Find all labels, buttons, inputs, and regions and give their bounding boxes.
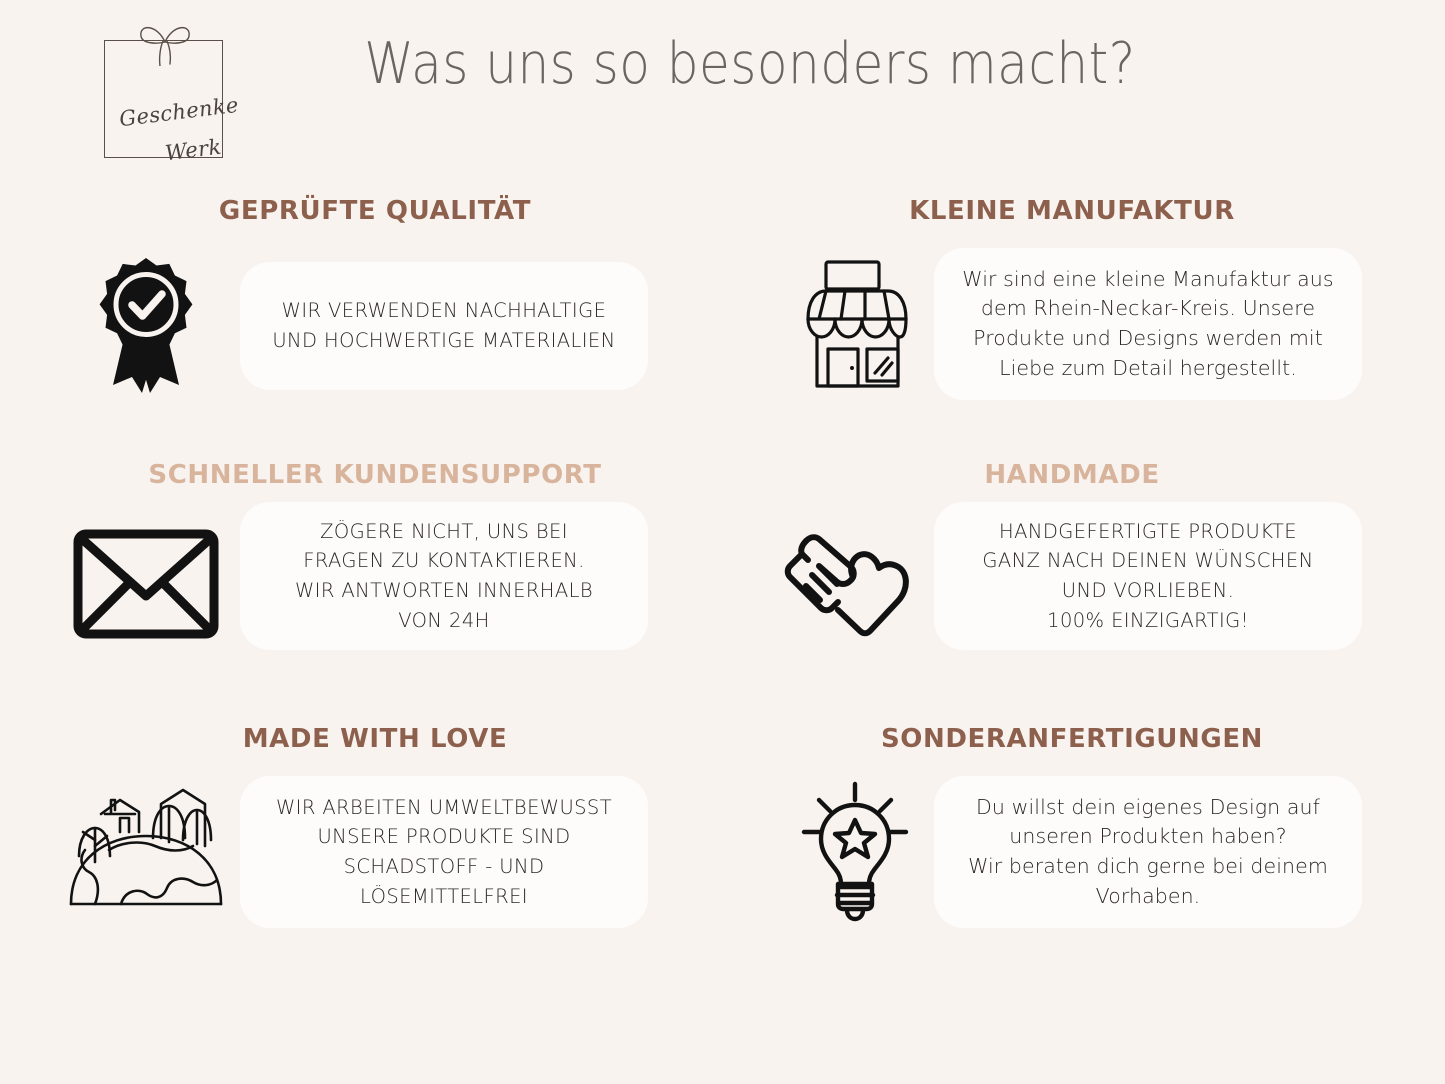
feature-body-gepruefte-qualitaet: WIR VERWENDEN NACHHALTIGE UND HOCHWERTIG… [272, 296, 615, 355]
bow-icon [127, 20, 203, 66]
feature-card-sonderanfertigungen: Du willst dein eigenes Design auf unsere… [934, 776, 1362, 928]
features-row-1: GEPRÜFTE QUALITÄT WIR VERWENDEN NACHHALT… [0, 196, 1445, 460]
page-title: Was uns so besonders macht? [328, 33, 1173, 96]
feature-kleine-manufaktur: KLEINE MANUFAKTUR [722, 196, 1422, 460]
features-row-3: MADE WITH LOVE [0, 724, 1445, 988]
feature-body-kleine-manufaktur: Wir sind eine kleine Manufaktur aus dem … [962, 265, 1333, 384]
feature-heading-made-with-love: MADE WITH LOVE [25, 724, 725, 754]
feature-body-schneller-kundensupport: ZÖGERE NICHT, UNS BEI FRAGEN ZU KONTAKTI… [295, 517, 593, 636]
feature-card-gepruefte-qualitaet: WIR VERWENDEN NACHHALTIGE UND HOCHWERTIG… [240, 262, 648, 390]
feature-made-with-love: MADE WITH LOVE [25, 724, 725, 988]
feature-sonderanfertigungen: SONDERANFERTIGUNGEN [722, 724, 1422, 988]
feature-heading-gepruefte-qualitaet: GEPRÜFTE QUALITÄT [25, 196, 725, 226]
feature-gepruefte-qualitaet: GEPRÜFTE QUALITÄT WIR VERWENDEN NACHHALT… [25, 196, 725, 460]
storefront-icon [770, 244, 940, 404]
feature-card-schneller-kundensupport: ZÖGERE NICHT, UNS BEI FRAGEN ZU KONTAKTI… [240, 502, 648, 650]
feature-handmade: HANDMADE HANDGEFERTIGTE PRODUKTE GANZ NA [722, 460, 1422, 724]
feature-card-kleine-manufaktur: Wir sind eine kleine Manufaktur aus dem … [934, 248, 1362, 400]
feature-schneller-kundensupport: SCHNELLER KUNDENSUPPORT ZÖGERE NICHT, UN… [25, 460, 725, 724]
brand-logo: Geschenke Werk [97, 20, 231, 160]
feature-body-made-with-love: WIR ARBEITEN UMWELTBEWUSST UNSERE PRODUK… [276, 793, 612, 912]
feature-body-handmade: HANDGEFERTIGTE PRODUKTE GANZ NACH DEINEN… [982, 517, 1313, 636]
hand-holding-heart-icon [770, 504, 940, 664]
features-row-2: SCHNELLER KUNDENSUPPORT ZÖGERE NICHT, UN… [0, 460, 1445, 724]
award-badge-check-icon [53, 244, 239, 404]
feature-card-handmade: HANDGEFERTIGTE PRODUKTE GANZ NACH DEINEN… [934, 502, 1362, 650]
feature-heading-kleine-manufaktur: KLEINE MANUFAKTUR [722, 196, 1422, 226]
feature-card-made-with-love: WIR ARBEITEN UMWELTBEWUSST UNSERE PRODUK… [240, 776, 648, 928]
lightbulb-star-idea-icon [770, 768, 940, 928]
features-grid: GEPRÜFTE QUALITÄT WIR VERWENDEN NACHHALT… [0, 196, 1445, 988]
earth-nature-house-icon [53, 768, 239, 928]
envelope-icon [53, 504, 239, 664]
feature-heading-sonderanfertigungen: SONDERANFERTIGUNGEN [722, 724, 1422, 754]
feature-body-sonderanfertigungen: Du willst dein eigenes Design auf unsere… [968, 793, 1328, 912]
feature-heading-handmade: HANDMADE [722, 460, 1422, 490]
feature-heading-schneller-kundensupport: SCHNELLER KUNDENSUPPORT [25, 460, 725, 490]
